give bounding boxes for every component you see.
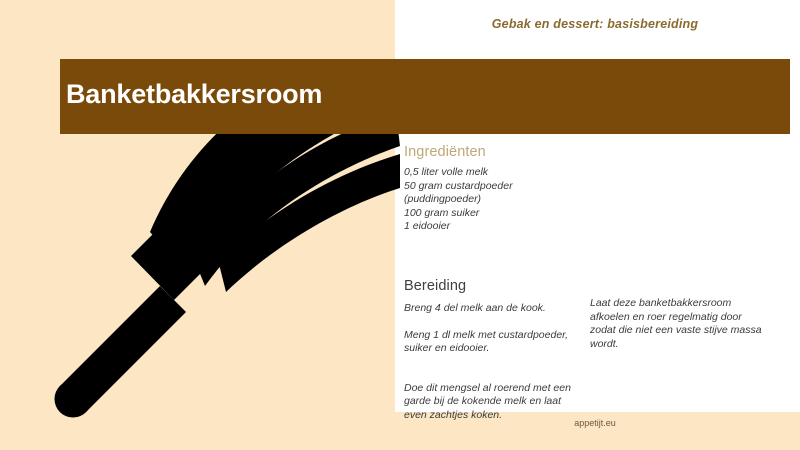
preparation-column-right: Laat deze banketbakkersroom afkoelen en … <box>590 297 770 351</box>
ingredients-section: Ingrediënten 0,5 liter volle melk 50 gra… <box>404 144 654 234</box>
preparation-step: Laat deze banketbakkersroom afkoelen en … <box>590 297 770 351</box>
ingredient-item: 1 eidooier <box>404 220 654 234</box>
page-title: Banketbakkersroom <box>66 79 322 110</box>
recipe-slide: Gebak en dessert: basisbereiding Banketb… <box>0 0 800 450</box>
preparation-step: Meng 1 dl melk met custardpoeder, suiker… <box>404 329 584 356</box>
ingredient-item: 50 gram custardpoeder <box>404 180 654 194</box>
preparation-heading: Bereiding <box>404 278 466 294</box>
footer-source: appetijt.eu <box>395 418 795 428</box>
header-kicker: Gebak en dessert: basisbereiding <box>395 17 795 31</box>
preparation-step: Doe dit mengsel al roerend met een garde… <box>404 382 584 423</box>
ingredient-item: 100 gram suiker <box>404 207 654 221</box>
ingredient-item: 0,5 liter volle melk <box>404 166 654 180</box>
ingredients-heading: Ingrediënten <box>404 144 654 160</box>
preparation-column-left: Breng 4 del melk aan de kook. Meng 1 dl … <box>404 302 584 422</box>
preparation-step: Breng 4 del melk aan de kook. <box>404 302 584 316</box>
ingredient-item: (puddingpoeder) <box>404 193 654 207</box>
